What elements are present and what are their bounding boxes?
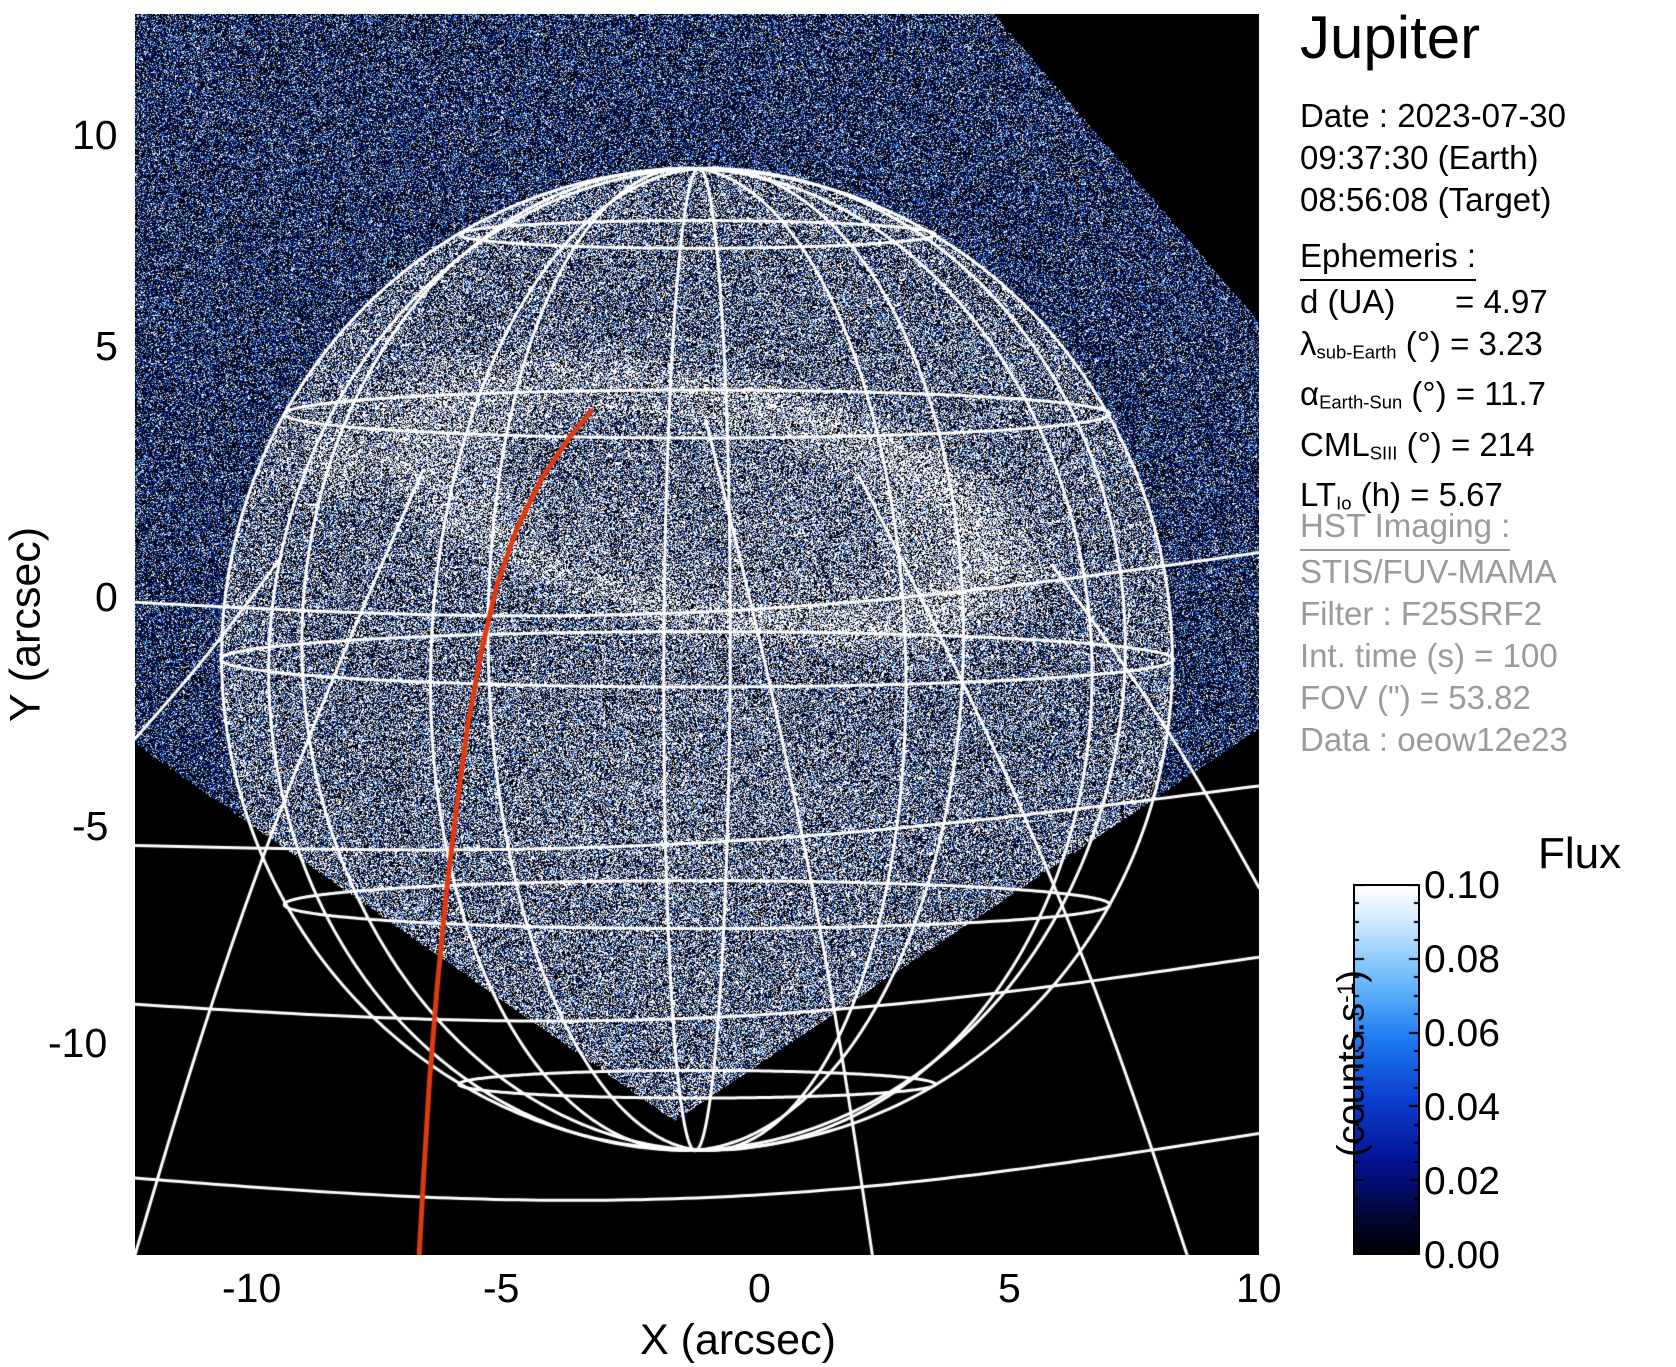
- ephemeris-value: = 3.23: [1450, 325, 1543, 362]
- ephemeris-symbol: α: [1300, 375, 1319, 412]
- ephemeris-symbol: λ: [1300, 325, 1317, 362]
- aurora-image-panel: [135, 14, 1259, 1255]
- instrument-block: HST Imaging : STIS/FUV-MAMA Filter : F25…: [1300, 505, 1568, 761]
- instrument-fov: FOV (") = 53.82: [1300, 677, 1568, 719]
- y-tick-label: -5: [72, 806, 108, 847]
- ephemeris-heading-text: Ephemeris :: [1300, 235, 1476, 281]
- jupiter-fuv-image: [135, 14, 1259, 1255]
- page-title: Jupiter: [1300, 8, 1480, 68]
- ephemeris-heading: Ephemeris :: [1300, 235, 1548, 281]
- colorbar-tick-label: 0.08: [1424, 940, 1500, 979]
- colorbar-units-exponent: -1: [1332, 983, 1358, 1003]
- ephemeris-subscript: SIII: [1370, 442, 1398, 463]
- ephemeris-unit: (°): [1407, 426, 1442, 463]
- x-tick-label: -5: [483, 1268, 519, 1309]
- colorbar-axis-label: (counts.s-1): [1331, 934, 1374, 1194]
- colorbar-units-text: (counts.s: [1331, 1003, 1373, 1157]
- y-tick-label: 10: [72, 115, 118, 156]
- instrument-heading-text: HST Imaging :: [1300, 505, 1510, 551]
- observation-date: Date : 2023-07-30: [1300, 95, 1566, 137]
- x-tick-label: -10: [222, 1268, 281, 1309]
- instrument-heading: HST Imaging :: [1300, 505, 1568, 551]
- ephemeris-row-phase-angle: αEarth-Sun (°) = 11.7: [1300, 373, 1548, 423]
- ephemeris-subscript: sub-Earth: [1317, 341, 1397, 362]
- x-tick-label: 10: [1236, 1268, 1282, 1309]
- ephemeris-value: = 11.7: [1456, 375, 1546, 412]
- ephemeris-subscript: Earth-Sun: [1319, 392, 1402, 413]
- instrument-detector: STIS/FUV-MAMA: [1300, 551, 1568, 593]
- ephemeris-row-sub-earth-lat: λsub-Earth (°) = 3.23: [1300, 323, 1548, 373]
- ephemeris-value: = 214: [1451, 426, 1535, 463]
- y-tick-label: -10: [48, 1023, 107, 1064]
- ephemeris-row-distance: d (UA)= 4.97: [1300, 281, 1548, 323]
- colorbar-tick-label: 0.10: [1424, 866, 1500, 905]
- colorbar-units-close: ): [1331, 970, 1373, 983]
- y-tick-label: 0: [95, 577, 118, 618]
- colorbar-title: Flux: [1538, 832, 1621, 876]
- instrument-int-time: Int. time (s) = 100: [1300, 635, 1568, 677]
- x-tick-label: 0: [748, 1268, 771, 1309]
- x-axis-title: X (arcsec): [640, 1316, 836, 1365]
- y-axis-title: Y (arcsec): [2, 495, 51, 755]
- instrument-filter: Filter : F25SRF2: [1300, 593, 1568, 635]
- ephemeris-block: Ephemeris : d (UA)= 4.97 λsub-Earth (°) …: [1300, 235, 1548, 524]
- observation-time-earth: 09:37:30 (Earth): [1300, 137, 1566, 179]
- ephemeris-row-cml: CMLSIII (°) = 214: [1300, 424, 1548, 474]
- colorbar-tick-label: 0.00: [1424, 1236, 1500, 1275]
- instrument-dataset-id: Data : oeow12e23: [1300, 719, 1568, 761]
- ephemeris-value: = 4.97: [1455, 283, 1548, 320]
- ephemeris-symbol: CML: [1300, 426, 1370, 463]
- colorbar-tick-label: 0.02: [1424, 1162, 1500, 1201]
- colorbar-tick-label: 0.04: [1424, 1088, 1500, 1127]
- colorbar-tick-label: 0.06: [1424, 1014, 1500, 1053]
- y-tick-label: 5: [95, 326, 118, 367]
- x-tick-label: 5: [998, 1268, 1021, 1309]
- ephemeris-unit: (°): [1406, 325, 1441, 362]
- observation-time-target: 08:56:08 (Target): [1300, 179, 1566, 221]
- observation-block: Date : 2023-07-30 09:37:30 (Earth) 08:56…: [1300, 95, 1566, 221]
- ephemeris-unit: (°): [1411, 375, 1446, 412]
- ephemeris-label: d (UA): [1300, 281, 1455, 323]
